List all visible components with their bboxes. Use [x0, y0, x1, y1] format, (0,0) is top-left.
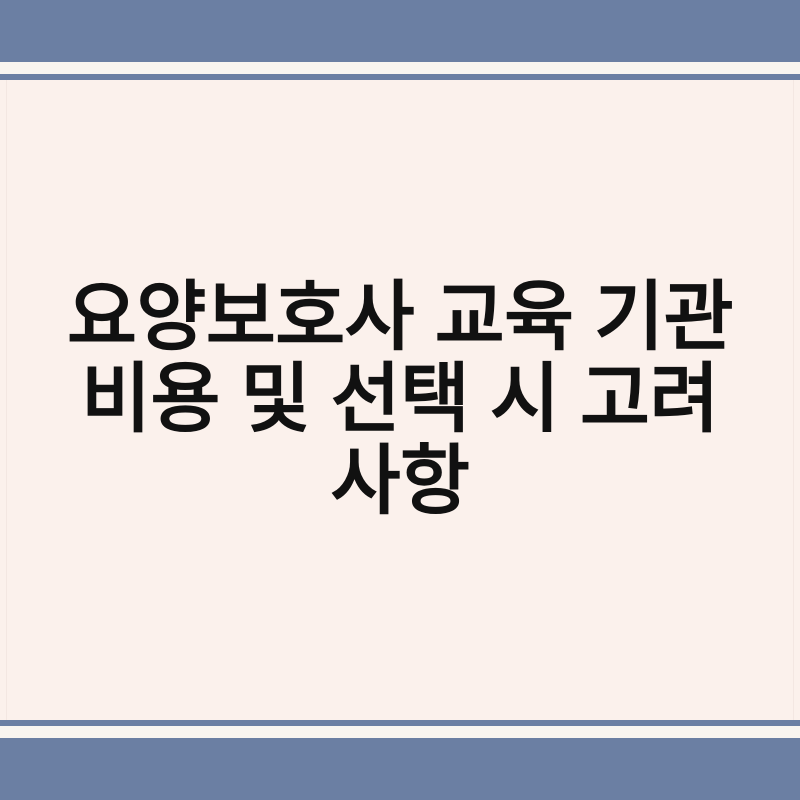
- thumbnail-card: 요양보호사 교육 기관 비용 및 선택 시 고려 사항: [0, 0, 800, 800]
- title-line-3: 사항: [48, 441, 752, 523]
- top-thin-stripe: [0, 74, 800, 80]
- bottom-decorative-band: [0, 738, 800, 800]
- bottom-band-group: [0, 720, 800, 800]
- title-line-2: 비용 및 선택 시 고려: [48, 359, 752, 441]
- top-band-gap: [0, 62, 800, 74]
- top-decorative-band: [0, 0, 800, 62]
- title-line-1: 요양보호사 교육 기관: [48, 277, 752, 359]
- top-band-group: [0, 0, 800, 80]
- page-title: 요양보호사 교육 기관 비용 및 선택 시 고려 사항: [48, 277, 752, 523]
- title-stage: 요양보호사 교육 기관 비용 및 선택 시 고려 사항: [0, 80, 800, 720]
- bottom-band-gap: [0, 726, 800, 738]
